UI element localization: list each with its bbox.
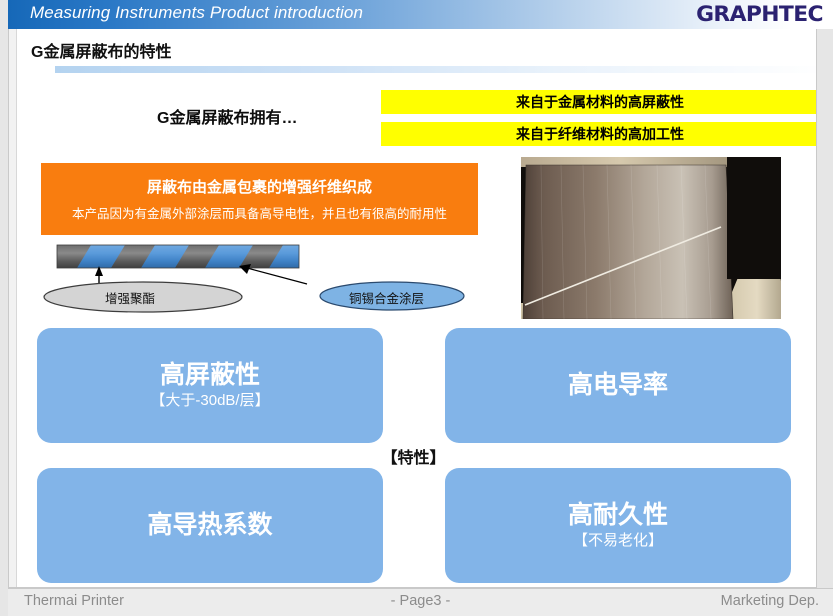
- presentation-header: Measuring Instruments Product introducti…: [8, 0, 833, 29]
- slide-footer: Thermai Printer - Page3 - Marketing Dep.: [8, 588, 833, 616]
- highlight-banner-processability: 来自于纤维材料的高加工性: [381, 122, 817, 146]
- feature-title: 高电导率: [568, 372, 668, 400]
- orange-callout-heading: 屏蔽布由金属包裹的增强纤维织成: [147, 176, 372, 197]
- diagram-label-alloy-coating: 铜锡合金涂层: [349, 288, 424, 307]
- slide-left-rail: [9, 29, 17, 588]
- orange-callout-box: 屏蔽布由金属包裹的增强纤维织成 本产品因为有金属外部涂层而具备高导电性，并且也有…: [41, 163, 478, 235]
- header-title: Measuring Instruments Product introducti…: [30, 3, 363, 23]
- orange-callout-subtext: 本产品因为有金属外部涂层而具备高导电性，并且也有很高的耐用性: [72, 203, 447, 222]
- feature-card-conductivity: 高电导率: [445, 328, 791, 443]
- layer-structure-diagram: [29, 240, 489, 320]
- title-divider: [55, 66, 817, 73]
- feature-title: 高耐久性: [568, 502, 668, 530]
- feature-title: 高屏蔽性: [160, 362, 260, 390]
- product-photo: [521, 157, 781, 319]
- feature-card-durability: 高耐久性 【不易老化】: [445, 468, 791, 583]
- slide-canvas: G金属屏蔽布的特性 G金属屏蔽布拥有… 来自于金属材料的高屏蔽性 来自于纤维材料…: [8, 0, 817, 588]
- feature-card-thermal: 高导热系数: [37, 468, 383, 583]
- footer-right-text: Marketing Dep.: [721, 593, 819, 609]
- features-center-label: 【特性】: [9, 444, 817, 468]
- diagram-label-polyester: 增强聚酯: [105, 288, 155, 307]
- feature-subtitle: 【大于-30dB/层】: [150, 393, 269, 410]
- feature-subtitle: 【不易老化】: [573, 533, 663, 550]
- footer-page-number: - Page3 -: [8, 593, 833, 609]
- sub-heading: G金属屏蔽布拥有…: [157, 104, 297, 128]
- highlight-banner-shielding: 来自于金属材料的高屏蔽性: [381, 90, 817, 114]
- feature-title: 高导热系数: [147, 512, 272, 540]
- graphtec-logo: GRAPHTEC: [696, 2, 823, 26]
- feature-card-shielding: 高屏蔽性 【大于-30dB/层】: [37, 328, 383, 443]
- page-title: G金属屏蔽布的特性: [31, 38, 171, 62]
